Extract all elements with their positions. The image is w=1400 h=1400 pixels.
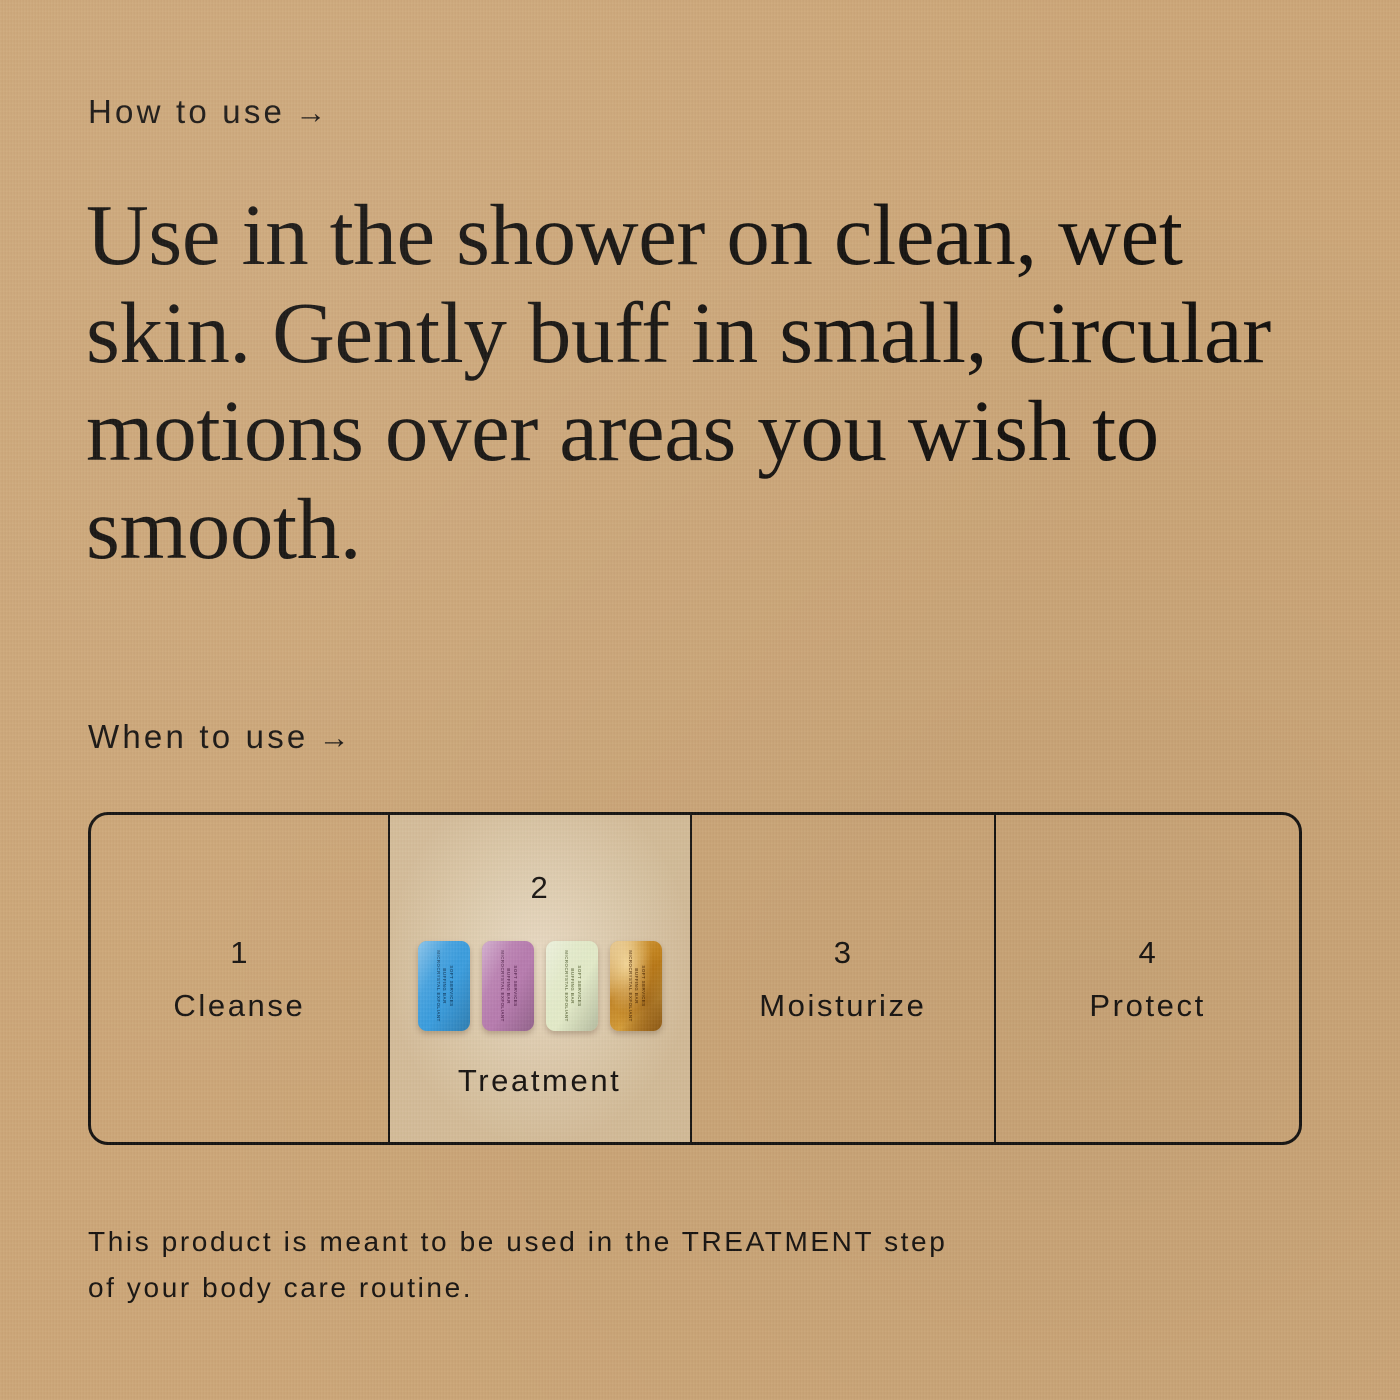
routine-step-cell-moisturize[interactable]: 3 Moisturize bbox=[692, 815, 997, 1142]
product-bar-label: SOFT SERVICES BUFFING BAR MICROCRYSTAL E… bbox=[626, 943, 646, 1029]
routine-step-cell-protect[interactable]: 4 Protect bbox=[996, 815, 1299, 1142]
product-bar-label: SOFT SERVICES BUFFING BAR MICROCRYSTAL E… bbox=[562, 943, 582, 1029]
product-bar-brand: SOFT SERVICES bbox=[639, 943, 646, 1029]
product-bar-group: SOFT SERVICES BUFFING BAR MICROCRYSTAL E… bbox=[418, 941, 662, 1031]
product-bar-product: BUFFING BAR bbox=[440, 943, 447, 1029]
step-number: 4 bbox=[1139, 937, 1157, 968]
product-bar-descriptor: MICROCRYSTAL EXFOLIANT bbox=[434, 943, 441, 1029]
product-bar-label: SOFT SERVICES BUFFING BAR MICROCRYSTAL E… bbox=[434, 943, 454, 1029]
product-bar-descriptor: MICROCRYSTAL EXFOLIANT bbox=[562, 943, 569, 1029]
step-number: 2 bbox=[531, 872, 549, 903]
product-bar-green[interactable]: SOFT SERVICES BUFFING BAR MICROCRYSTAL E… bbox=[546, 941, 598, 1031]
product-bar-descriptor: MICROCRYSTAL EXFOLIANT bbox=[626, 943, 633, 1029]
product-bar-descriptor: MICROCRYSTAL EXFOLIANT bbox=[498, 943, 505, 1029]
step-label: Treatment bbox=[458, 1065, 622, 1096]
when-to-use-heading-label: When to use bbox=[88, 718, 308, 755]
product-bar-label: SOFT SERVICES BUFFING BAR MICROCRYSTAL E… bbox=[498, 943, 518, 1029]
how-to-use-heading: How to use→ bbox=[88, 93, 326, 131]
step-label: Cleanse bbox=[173, 990, 305, 1021]
how-to-use-heading-label: How to use bbox=[88, 93, 285, 130]
routine-steps-table: 1 Cleanse 2 SOFT SERVICES BUFFING BAR MI… bbox=[88, 812, 1302, 1145]
product-bar-brand: SOFT SERVICES bbox=[575, 943, 582, 1029]
footnote-line-2: of your body care routine. bbox=[88, 1265, 1268, 1311]
step-number: 1 bbox=[230, 937, 248, 968]
when-to-use-heading: When to use→ bbox=[88, 718, 349, 756]
product-bar-product: BUFFING BAR bbox=[632, 943, 639, 1029]
routine-step-cell-treatment[interactable]: 2 SOFT SERVICES BUFFING BAR MICROCRYSTAL… bbox=[390, 815, 692, 1142]
routine-step-cell-cleanse[interactable]: 1 Cleanse bbox=[91, 815, 390, 1142]
product-bar-amber[interactable]: SOFT SERVICES BUFFING BAR MICROCRYSTAL E… bbox=[610, 941, 662, 1031]
page-root: How to use→ Use in the shower on clean, … bbox=[0, 0, 1400, 1400]
product-bar-brand: SOFT SERVICES bbox=[447, 943, 454, 1029]
arrow-right-icon: → bbox=[295, 95, 326, 130]
product-bar-brand: SOFT SERVICES bbox=[511, 943, 518, 1029]
product-bar-product: BUFFING BAR bbox=[504, 943, 511, 1029]
step-number: 3 bbox=[834, 937, 852, 968]
footnote: This product is meant to be used in the … bbox=[88, 1219, 1268, 1311]
product-bar-product: BUFFING BAR bbox=[568, 943, 575, 1029]
product-bar-blue[interactable]: SOFT SERVICES BUFFING BAR MICROCRYSTAL E… bbox=[418, 941, 470, 1031]
product-bar-mauve[interactable]: SOFT SERVICES BUFFING BAR MICROCRYSTAL E… bbox=[482, 941, 534, 1031]
how-to-use-body-text: Use in the shower on clean, wet skin. Ge… bbox=[86, 186, 1296, 578]
step-label: Moisturize bbox=[759, 990, 926, 1021]
footnote-line-1: This product is meant to be used in the … bbox=[88, 1219, 1268, 1265]
step-label: Protect bbox=[1089, 990, 1205, 1021]
arrow-right-icon: → bbox=[318, 720, 349, 755]
